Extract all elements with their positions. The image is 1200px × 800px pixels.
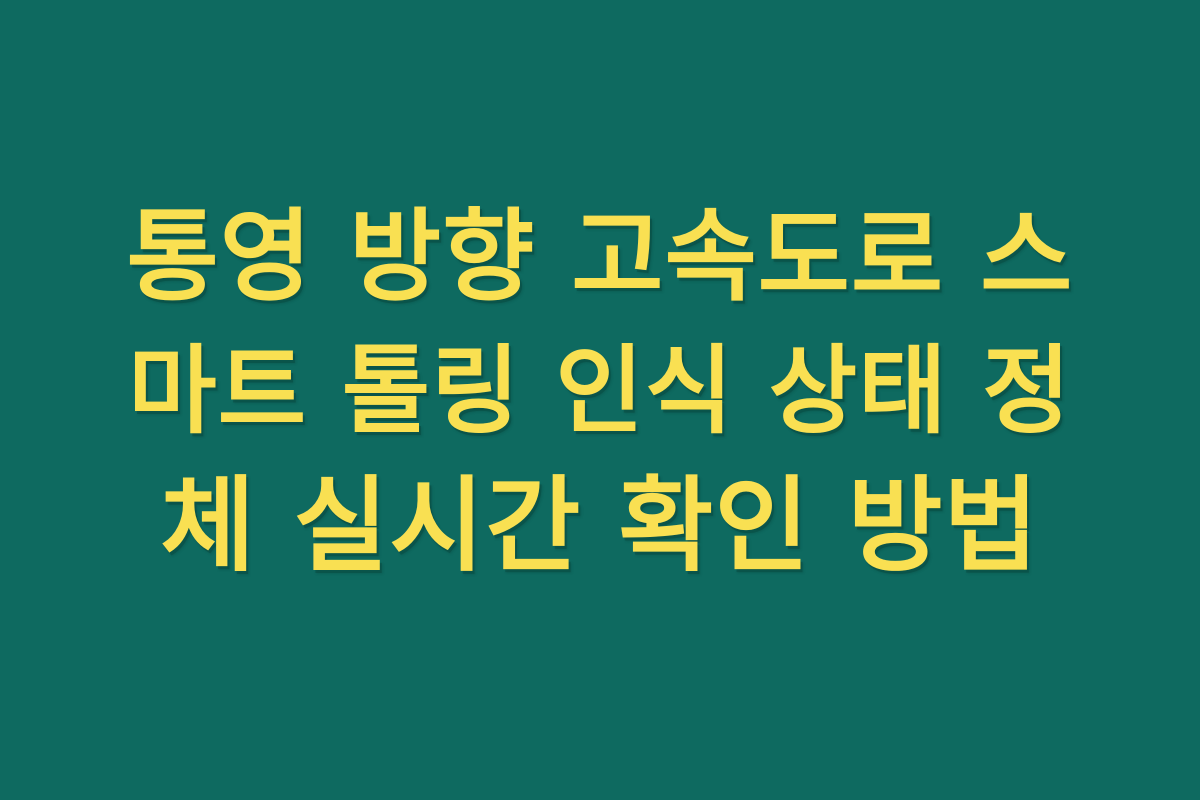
title-line-2: 마트 톨링 인식 상태 정 [128, 324, 1072, 459]
page-title: 통영 방향 고속도로 스 마트 톨링 인식 상태 정 체 실시간 확인 방법 [120, 189, 1080, 594]
title-line-1: 통영 방향 고속도로 스 [127, 189, 1074, 324]
title-banner: 통영 방향 고속도로 스 마트 톨링 인식 상태 정 체 실시간 확인 방법 [0, 0, 1200, 800]
title-line-3: 체 실시간 확인 방법 [160, 459, 1039, 594]
